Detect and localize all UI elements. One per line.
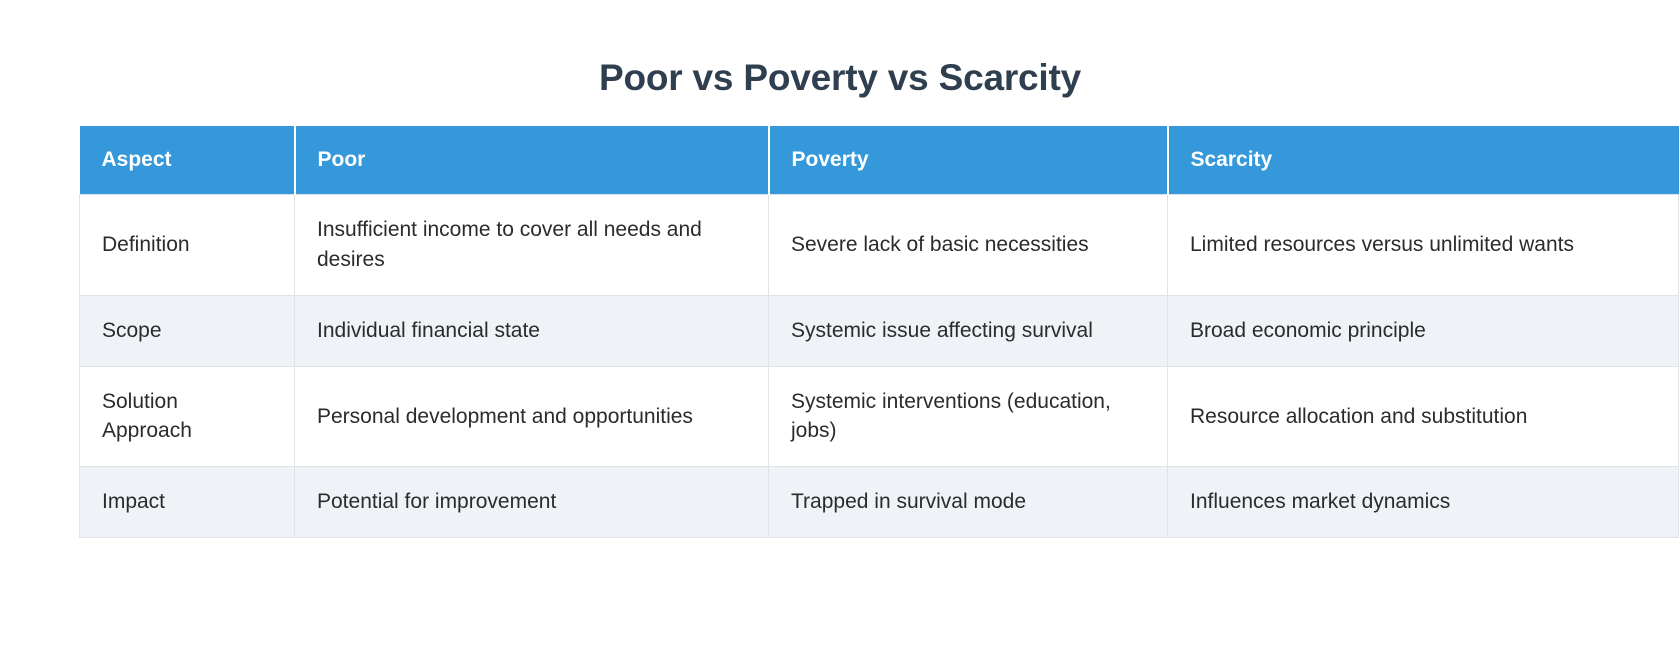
comparison-table: Aspect Poor Poverty Scarcity Definition … (79, 126, 1679, 538)
cell-poor: Individual financial state (295, 295, 769, 366)
cell-poverty: Severe lack of basic necessities (769, 195, 1168, 296)
table-body: Definition Insufficient income to cover … (80, 195, 1679, 538)
cell-poor: Personal development and opportunities (295, 366, 769, 467)
table-row: Scope Individual financial state Systemi… (80, 295, 1679, 366)
cell-poverty: Systemic interventions (education, jobs) (769, 366, 1168, 467)
cell-poverty: Systemic issue affecting survival (769, 295, 1168, 366)
column-header-scarcity[interactable]: Scarcity (1168, 126, 1679, 195)
page-title: Poor vs Poverty vs Scarcity (0, 25, 1680, 100)
column-header-aspect[interactable]: Aspect (80, 126, 295, 195)
cell-aspect: Impact (80, 467, 295, 538)
cell-aspect: Definition (80, 195, 295, 296)
comparison-table-container: Aspect Poor Poverty Scarcity Definition … (40, 126, 1640, 538)
cell-aspect: Solution Approach (80, 366, 295, 467)
cell-poor: Insufficient income to cover all needs a… (295, 195, 769, 296)
cell-poverty: Trapped in survival mode (769, 467, 1168, 538)
table-row: Solution Approach Personal development a… (80, 366, 1679, 467)
cell-scarcity: Broad economic principle (1168, 295, 1679, 366)
table-header: Aspect Poor Poverty Scarcity (80, 126, 1679, 195)
cell-poor: Potential for improvement (295, 467, 769, 538)
column-header-poor[interactable]: Poor (295, 126, 769, 195)
column-header-poverty[interactable]: Poverty (769, 126, 1168, 195)
table-row: Impact Potential for improvement Trapped… (80, 467, 1679, 538)
cell-scarcity: Influences market dynamics (1168, 467, 1679, 538)
cell-scarcity: Limited resources versus unlimited wants (1168, 195, 1679, 296)
table-header-row: Aspect Poor Poverty Scarcity (80, 126, 1679, 195)
cell-scarcity: Resource allocation and substitution (1168, 366, 1679, 467)
table-row: Definition Insufficient income to cover … (80, 195, 1679, 296)
cell-aspect: Scope (80, 295, 295, 366)
page-root: Poor vs Poverty vs Scarcity Aspect Poor … (0, 25, 1680, 645)
